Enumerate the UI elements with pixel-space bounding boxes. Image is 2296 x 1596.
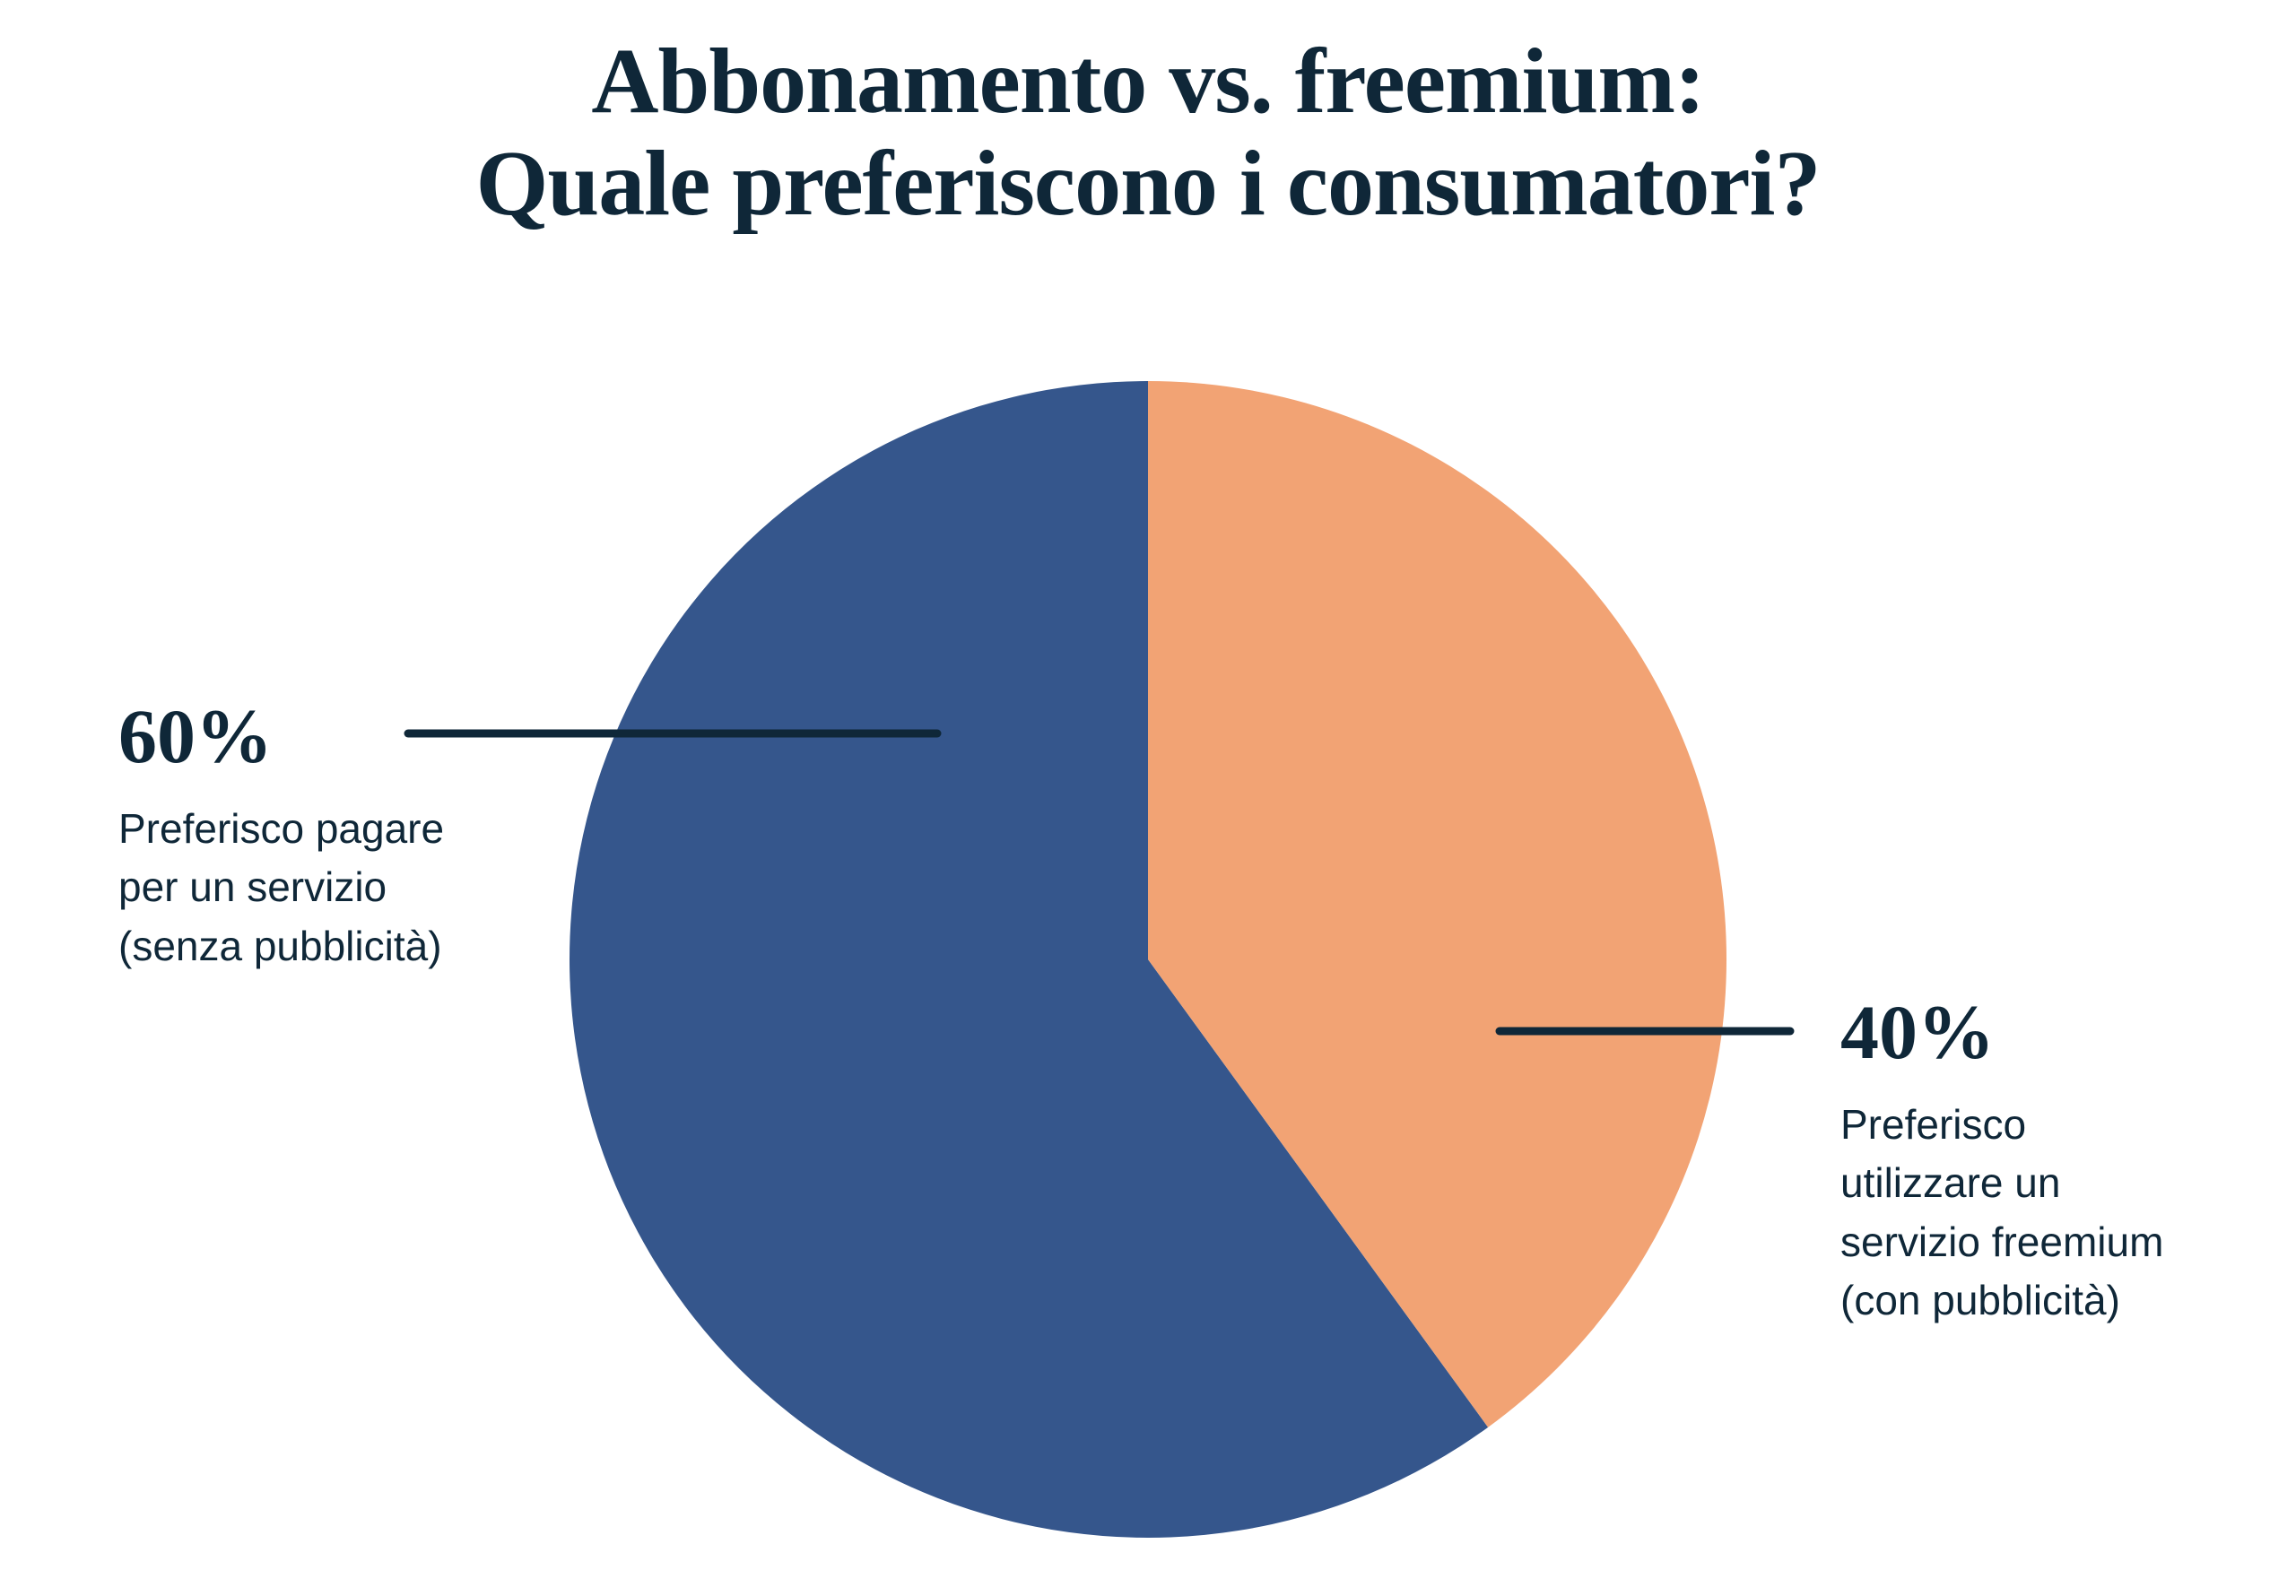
title-line-2: Quale preferiscono i consumatori? (0, 133, 2296, 235)
callout-right-description: Preferisco utilizzare un servizio freemi… (1840, 1096, 2262, 1330)
pie-slice-subscription[interactable] (570, 381, 1488, 1538)
callout-left: 60% Preferisco pagare per un servizio (s… (118, 698, 621, 976)
pie-slice-freemium[interactable] (1148, 381, 1726, 1427)
callout-right-percent: 40% (1840, 993, 2262, 1071)
callout-left-desc-line-1: Preferisco pagare (118, 800, 621, 858)
callout-left-description: Preferisco pagare per un servizio (senza… (118, 800, 621, 976)
callout-left-percent: 60% (118, 698, 621, 775)
callout-left-desc-line-3: (senza pubblicità) (118, 917, 621, 976)
infographic-root: Abbonamento vs. freemium: Quale preferis… (0, 0, 2296, 1596)
callout-right-desc-line-3: servizio freemium (1840, 1213, 2262, 1271)
callout-right-desc-line-1: Preferisco (1840, 1096, 2262, 1154)
callout-right-desc-line-4: (con pubblicità) (1840, 1271, 2262, 1330)
title-line-1: Abbonamento vs. freemium: (0, 30, 2296, 133)
callout-right: 40% Preferisco utilizzare un servizio fr… (1840, 993, 2262, 1330)
page-title: Abbonamento vs. freemium: Quale preferis… (0, 30, 2296, 236)
callout-left-desc-line-2: per un servizio (118, 858, 621, 916)
callout-right-desc-line-2: utilizzare un (1840, 1154, 2262, 1212)
